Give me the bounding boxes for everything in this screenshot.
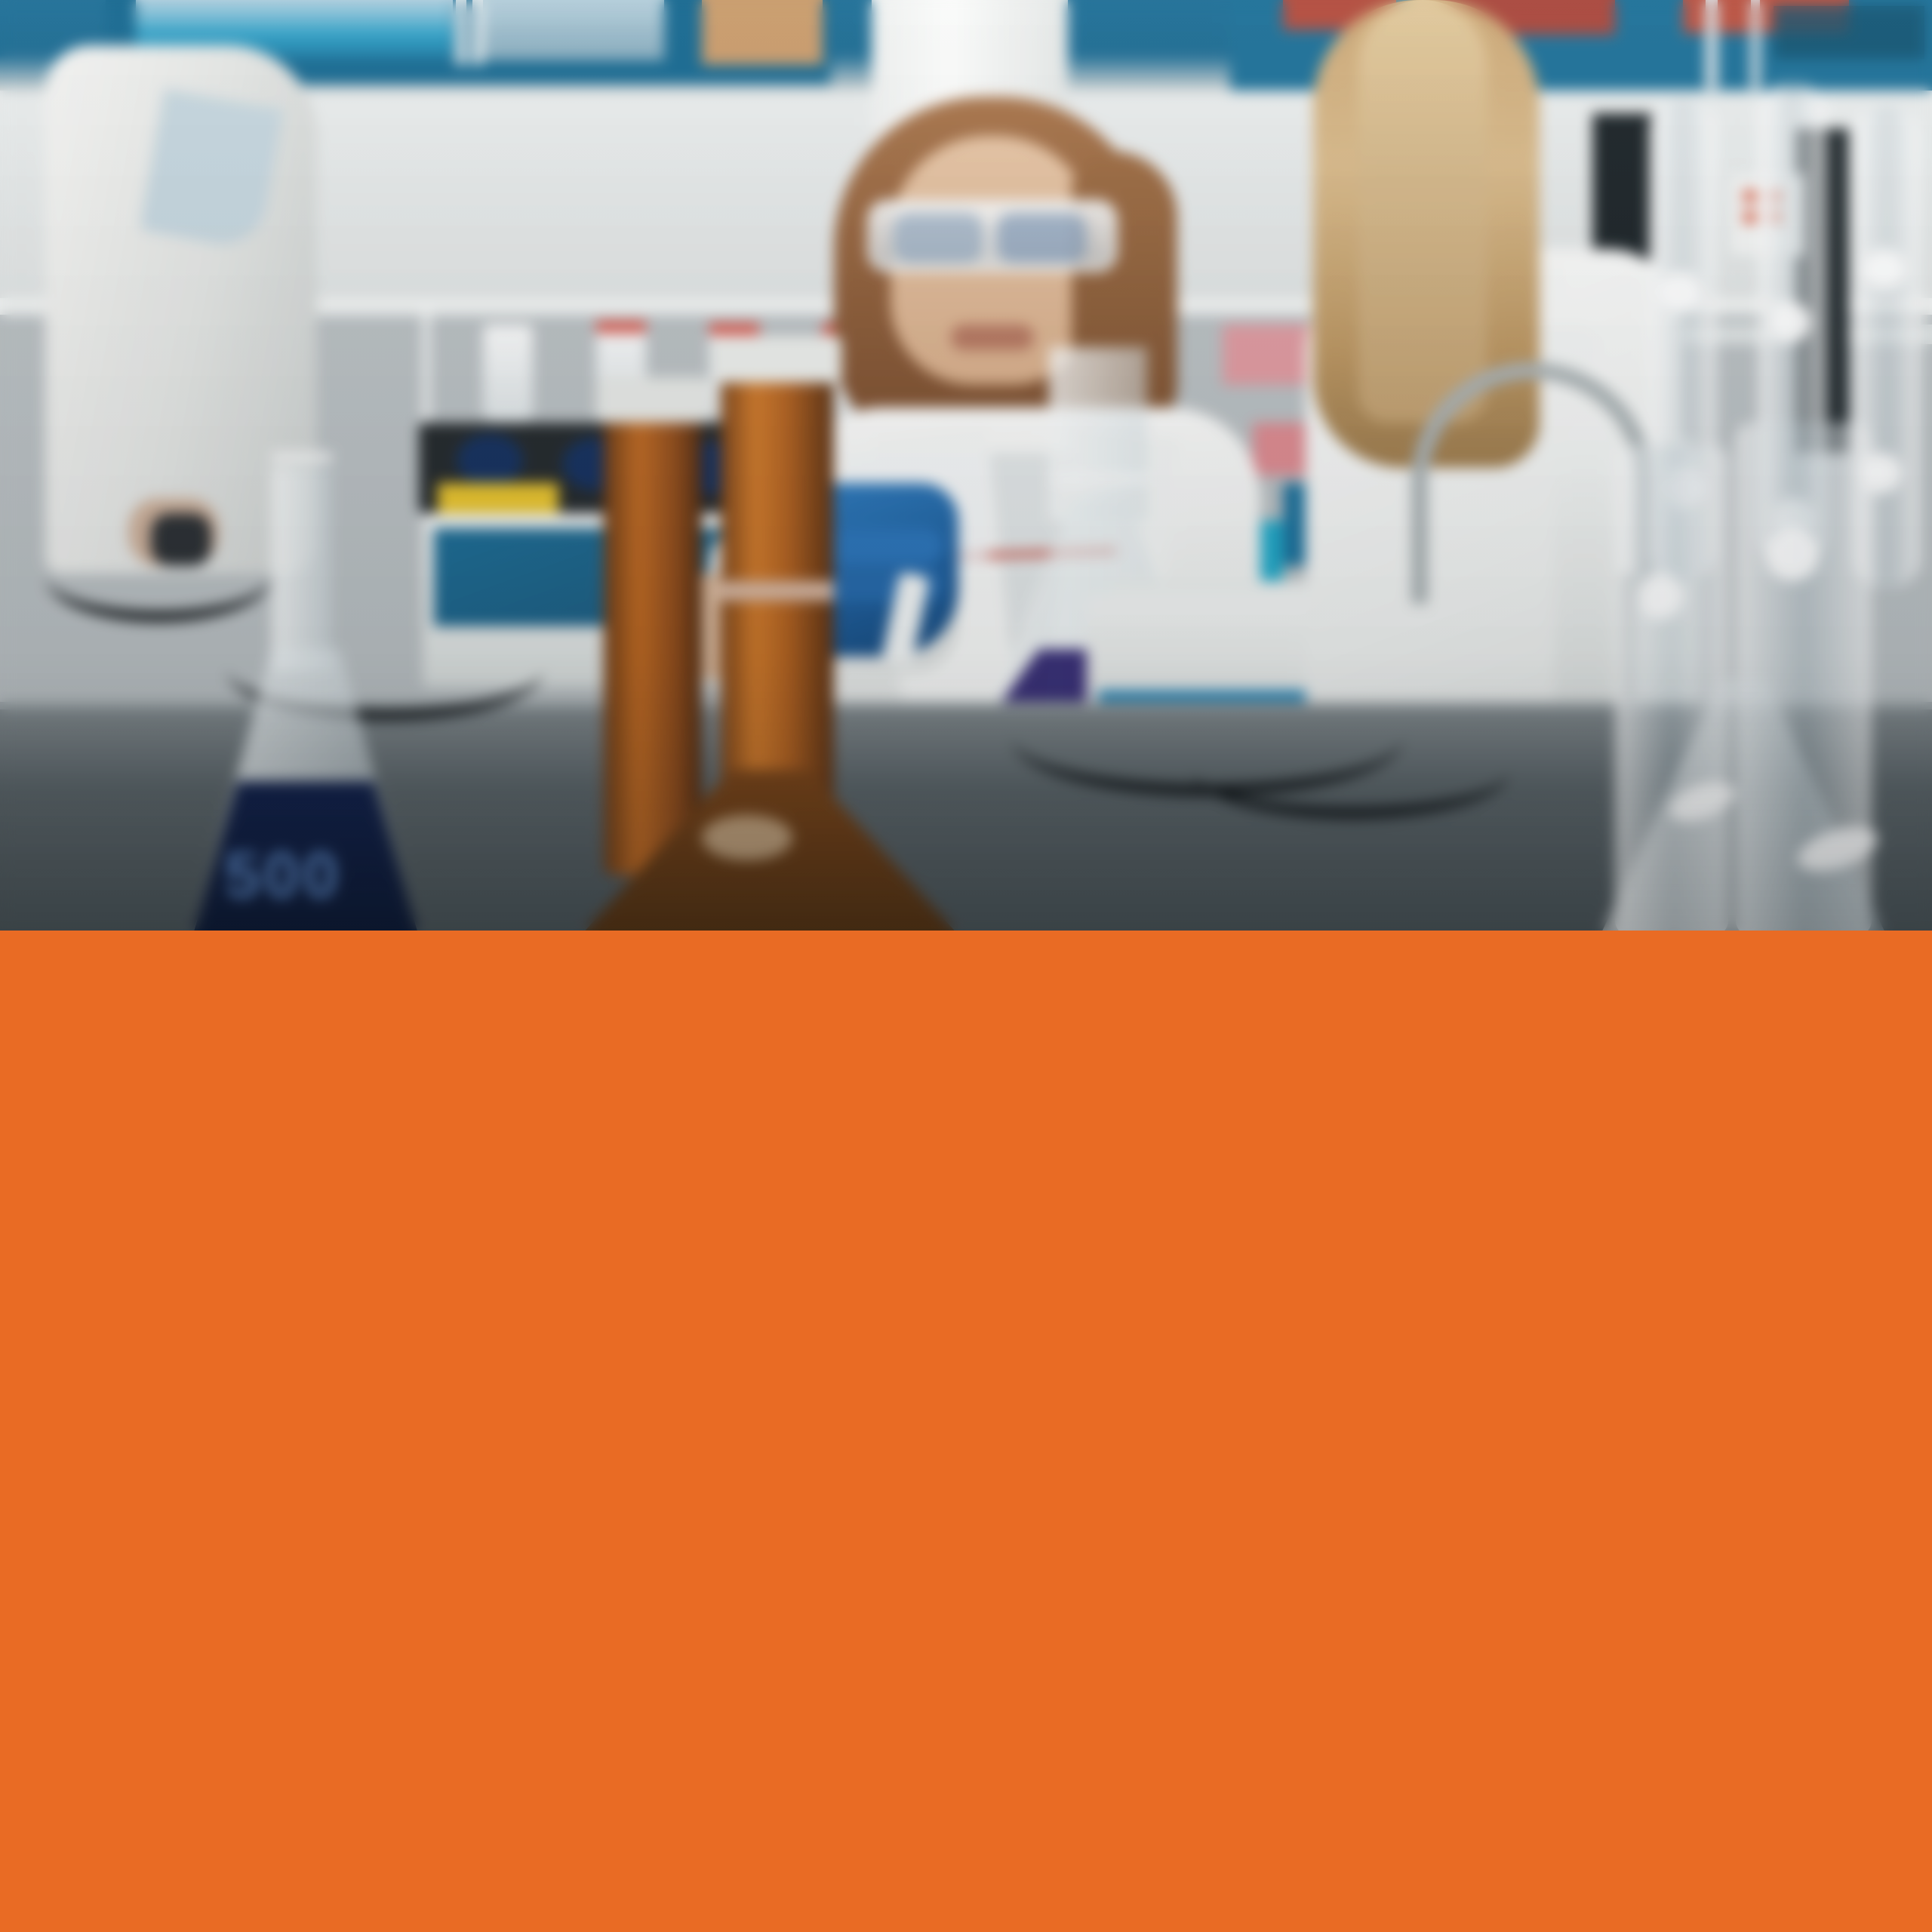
headline-line-1: THERE IS A FINE LINE [145, 1924, 1573, 1932]
social-graphic-card: 500 THERE IS A FINE LINE BETWEEN PASSION… [0, 0, 1932, 1932]
lab-photo: 500 [0, 0, 1932, 931]
photo-tint-overlay [0, 0, 1932, 931]
page-title: THERE IS A FINE LINE BETWEEN PASSION AND… [145, 1924, 1573, 1932]
orange-caption-panel: THERE IS A FINE LINE BETWEEN PASSION AND… [0, 931, 1932, 1932]
